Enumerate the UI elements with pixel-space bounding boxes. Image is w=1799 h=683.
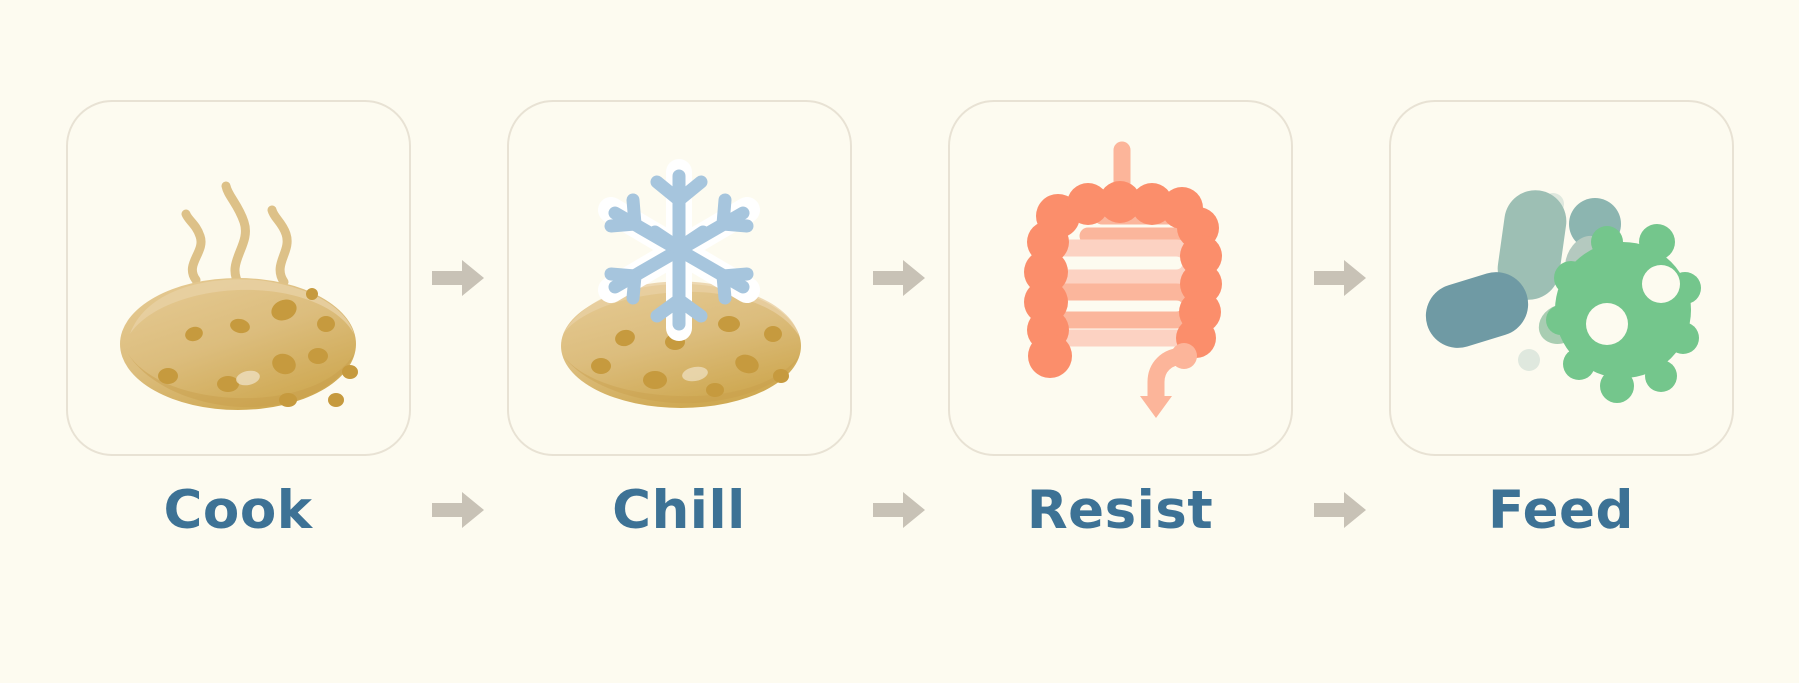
label-connector-2 (852, 488, 948, 532)
process-label-row: Cook Chill Resist Feed (0, 455, 1799, 565)
connector-chill-to-resist (852, 256, 948, 300)
steaming-potato-icon (68, 102, 409, 454)
label-connector-3 (1293, 488, 1389, 532)
process-card-row (0, 98, 1799, 458)
snowflake-potato-icon (509, 102, 850, 454)
arrow-right-icon (1312, 256, 1370, 300)
arrow-right-icon (871, 256, 929, 300)
step-label-feed: Feed (1389, 484, 1734, 537)
connector-cook-to-chill (411, 256, 507, 300)
step-label-resist: Resist (948, 484, 1293, 537)
infographic-canvas: Cook Chill Resist Feed (0, 0, 1799, 683)
step-card-feed[interactable] (1389, 100, 1734, 456)
arrow-right-icon (430, 256, 488, 300)
step-label-cook: Cook (66, 484, 411, 537)
step-card-cook[interactable] (66, 100, 411, 456)
arrow-right-icon (430, 488, 488, 532)
step-card-chill[interactable] (507, 100, 852, 456)
intestine-icon (950, 102, 1291, 454)
step-card-resist[interactable] (948, 100, 1293, 456)
step-label-chill: Chill (507, 484, 852, 537)
label-connector-1 (411, 488, 507, 532)
gut-bacteria-icon (1391, 102, 1732, 454)
arrow-right-icon (871, 488, 929, 532)
arrow-right-icon (1312, 488, 1370, 532)
connector-resist-to-feed (1293, 256, 1389, 300)
